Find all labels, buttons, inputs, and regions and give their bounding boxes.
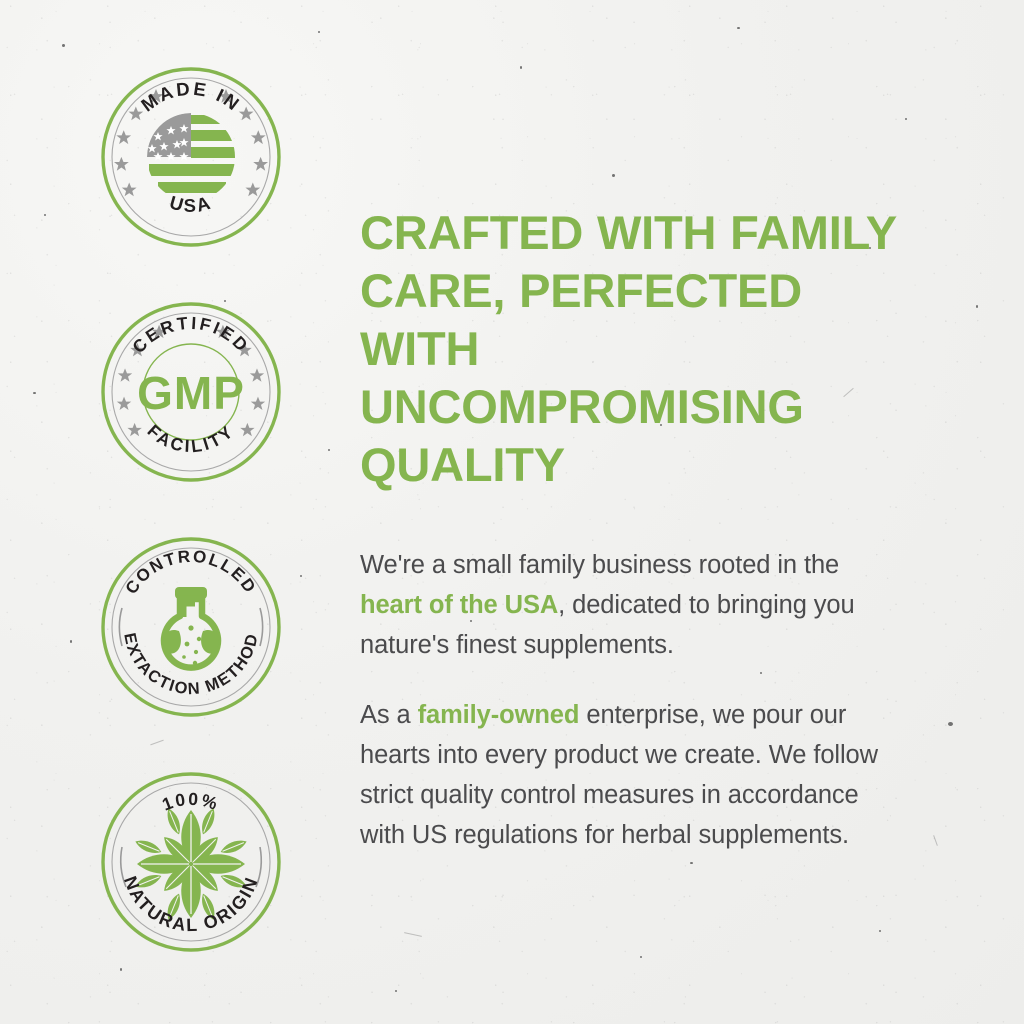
paragraph-two-highlight: family-owned <box>418 701 580 729</box>
paragraph-two-part-one: As a <box>360 701 418 729</box>
made-in-usa-badge: MADE IN USA <box>96 62 286 252</box>
flask-with-leaves-emblem <box>164 574 219 668</box>
us-flag-emblem <box>147 113 237 193</box>
page-title: CRAFTED WITH FAMILY CARE, PERFECTED WITH… <box>360 204 916 494</box>
text-content-column: CRAFTED WITH FAMILY CARE, PERFECTED WITH… <box>360 204 916 855</box>
paragraph-one-part-one: We're a small family business rooted in … <box>360 551 839 579</box>
gmp-certified-facility-badge: GMP CERTIFIED FACILITY <box>96 297 286 487</box>
badge-top-text: MADE IN <box>137 78 245 116</box>
badge-top-text: CERTIFIED <box>128 313 253 357</box>
natural-origin-badge: 100% NATURAL ORIGIN <box>96 767 286 957</box>
paragraph-one: We're a small family business rooted in … <box>360 545 880 665</box>
controlled-extraction-method-badge: CONTROLLED EXTACTION METHOD <box>96 532 286 722</box>
promotional-poster: MADE IN USA <box>0 0 1024 1024</box>
gmp-center-text: GMP <box>137 367 245 419</box>
paragraph-one-highlight: heart of the USA <box>360 591 558 619</box>
paragraph-two: As a family-owned enterprise, we pour ou… <box>360 695 880 855</box>
body-copy: We're a small family business rooted in … <box>360 545 880 855</box>
badge-bottom-text: USA <box>167 191 214 216</box>
trust-badges-column: MADE IN USA <box>96 62 286 1002</box>
badge-bottom-text: FACILITY <box>144 420 239 456</box>
